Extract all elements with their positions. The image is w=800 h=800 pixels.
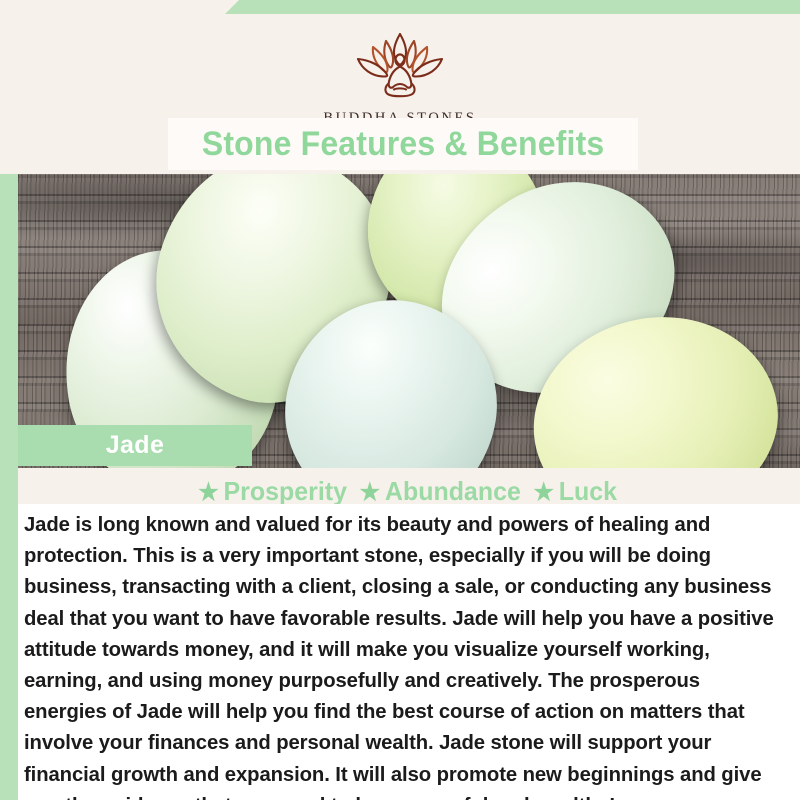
stone-name-band: Jade xyxy=(18,425,252,466)
jade-stones-photo xyxy=(18,168,800,468)
star-icon-2: ★ xyxy=(359,479,380,506)
star-icon-1: ★ xyxy=(198,479,219,506)
title-banner: Stone Features & Benefits xyxy=(168,118,638,170)
lotus-meditation-icon xyxy=(336,26,464,106)
brand-logo: BUDDHA STONES xyxy=(323,26,476,127)
star-icon-3: ★ xyxy=(533,479,554,506)
page-title: Stone Features & Benefits xyxy=(202,125,605,164)
keyword-prosperity: Prosperity xyxy=(224,476,347,506)
description-text: Jade is long known and valued for its be… xyxy=(24,509,782,800)
keyword-abundance: Abundance xyxy=(385,476,521,506)
frame-left-band xyxy=(0,168,18,800)
keyword-list: ★Prosperity★Abundance★Luck xyxy=(34,468,785,507)
stone-name-label: Jade xyxy=(106,431,165,460)
keyword-luck: Luck xyxy=(559,476,617,506)
description-panel: Jade is long known and valued for its be… xyxy=(18,504,800,800)
content-area: ★Prosperity★Abundance★Luck Jade is long … xyxy=(18,468,800,774)
infographic-page: BUDDHA STONES Stone Features & Benefits … xyxy=(0,0,800,800)
